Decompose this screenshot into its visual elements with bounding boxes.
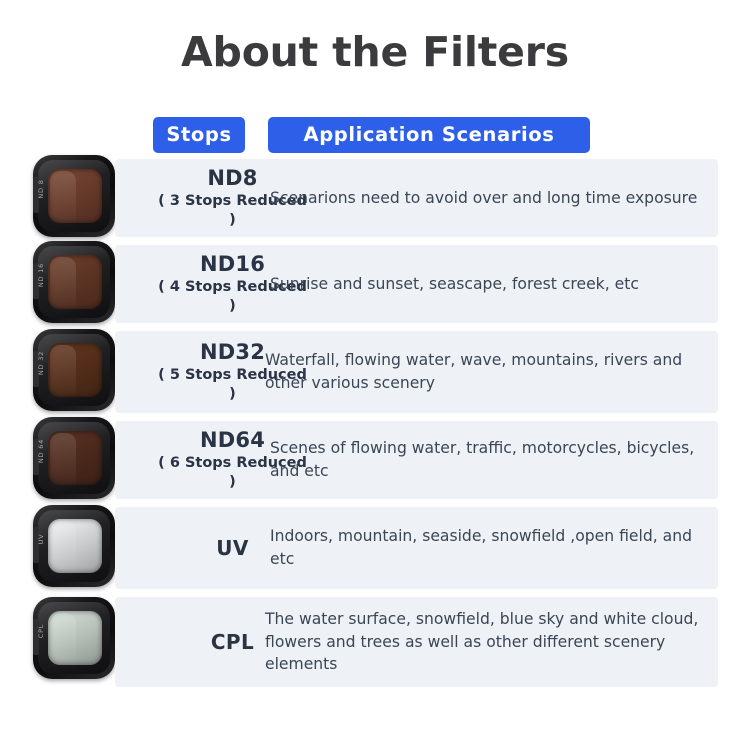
table-row: UV Indoors, mountain, seaside, snowfield… (115, 507, 718, 589)
glass (48, 611, 102, 665)
bezel (38, 510, 110, 582)
filter-engraving-label: ND 16 (37, 259, 45, 291)
table-row: ND16 ( 4 Stops Reduced ) Sunrise and sun… (115, 245, 718, 323)
filter-engraving-label: UV (37, 523, 45, 555)
scenario-cell: Scenarions need to avoid over and long t… (270, 159, 708, 237)
glass (48, 169, 102, 223)
filters-info-page: About the Filters Stops Application Scen… (0, 0, 750, 750)
nd32-filter-icon: ND 32 (33, 329, 115, 411)
header-application-scenarios-badge: Application Scenarios (268, 117, 590, 153)
header-stops-badge: Stops (153, 117, 245, 153)
table-row: CPL The water surface, snowfield, blue s… (115, 597, 718, 687)
filter-engraving-label: ND 32 (37, 347, 45, 379)
scenario-cell: Sunrise and sunset, seascape, forest cre… (270, 245, 708, 323)
scenario-cell: Waterfall, flowing water, wave, mountain… (265, 331, 708, 413)
glass (48, 343, 102, 397)
filter-name: ND16 (200, 252, 265, 277)
filter-name: ND8 (207, 166, 257, 191)
glass (48, 431, 102, 485)
cpl-filter-icon: CPL (33, 597, 115, 679)
glass (48, 519, 102, 573)
glass (48, 255, 102, 309)
filter-name: ND32 (200, 340, 265, 365)
bezel (38, 160, 110, 232)
filter-engraving-label: ND 64 (37, 435, 45, 467)
page-title: About the Filters (0, 28, 750, 76)
uv-filter-icon: UV (33, 505, 115, 587)
filter-engraving-label: CPL (37, 615, 45, 647)
table-header: Stops Application Scenarios (0, 117, 750, 153)
table-row: ND64 ( 6 Stops Reduced ) Scenes of flowi… (115, 421, 718, 499)
table-row: ND32 ( 5 Stops Reduced ) Waterfall, flow… (115, 331, 718, 413)
scenario-cell: Scenes of flowing water, traffic, motorc… (270, 421, 708, 499)
filter-name: UV (216, 536, 249, 560)
filter-name: ND64 (200, 428, 265, 453)
bezel (38, 422, 110, 494)
bezel (38, 334, 110, 406)
nd16-filter-icon: ND 16 (33, 241, 115, 323)
bezel (38, 602, 110, 674)
nd8-filter-icon: ND 8 (33, 155, 115, 237)
filter-name: CPL (211, 630, 254, 654)
table-row: ND8 ( 3 Stops Reduced ) Scenarions need … (115, 159, 718, 237)
filter-engraving-label: ND 8 (37, 173, 45, 205)
nd64-filter-icon: ND 64 (33, 417, 115, 499)
scenario-cell: The water surface, snowfield, blue sky a… (265, 597, 708, 687)
bezel (38, 246, 110, 318)
scenario-cell: Indoors, mountain, seaside, snowfield ,o… (270, 507, 708, 589)
